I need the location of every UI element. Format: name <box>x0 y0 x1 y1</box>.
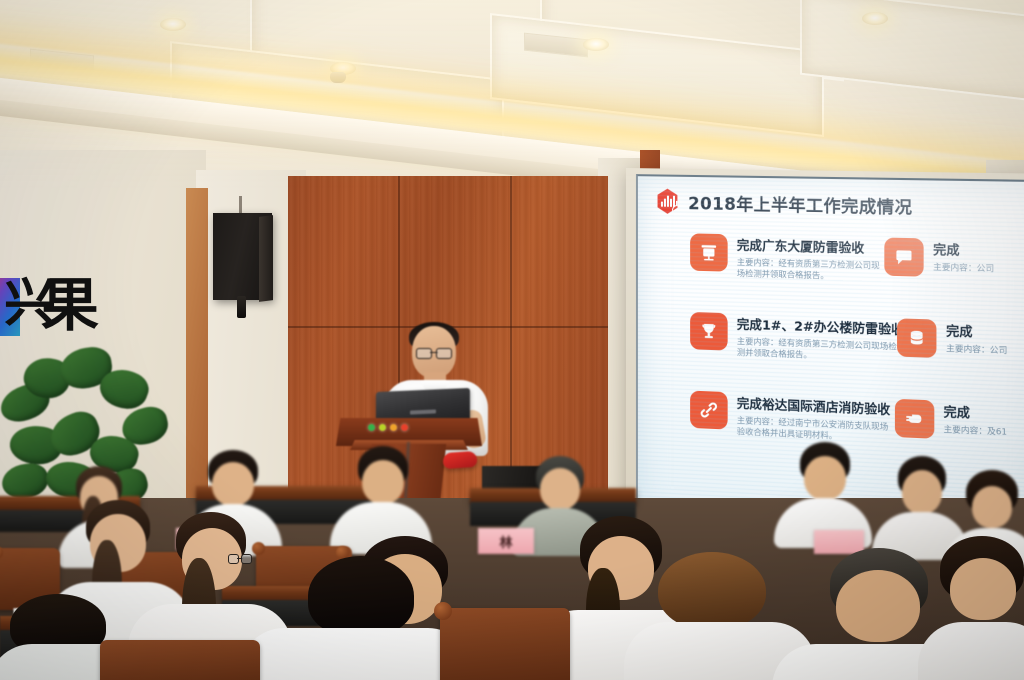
name-card: 林 <box>478 528 534 554</box>
slide-item-body: 主要内容：经有资质第三方检测公司现场检测并领取合格报告。 <box>737 257 880 283</box>
slide-item-heading: 完成 <box>943 402 1007 423</box>
ceiling-coffer <box>800 0 1024 109</box>
audience-member <box>336 448 428 546</box>
slide-header: 2018年上半年工作完成情况 <box>656 188 913 218</box>
slide-item: 完成广东大厦防雷验收 主要内容：经有资质第三方检测公司现场检测并领取合格报告。 <box>690 233 880 282</box>
slide-item-heading: 完成广东大厦防雷验收 <box>737 235 880 257</box>
recessed-downlight-icon <box>160 18 186 31</box>
slide-item: 完成 主要内容：公司 <box>884 238 1024 280</box>
slide-item-body: 主要内容：经有资质第三方检测公司现场检测并领取合格报告。 <box>737 336 904 364</box>
eyeglasses-icon <box>416 348 452 357</box>
audience-member <box>250 556 460 680</box>
chair-back <box>440 608 570 680</box>
chair-back <box>100 640 260 680</box>
wall-signage: 兴 果 <box>0 276 104 346</box>
database-icon <box>897 318 936 358</box>
lectern-control-buttons[interactable] <box>368 424 408 431</box>
trophy-icon <box>690 312 728 351</box>
company-hexagon-logo-icon <box>656 188 679 214</box>
link-chain-icon <box>690 391 728 430</box>
slide-item: 完成裕达国际酒店消防验收 主要内容：经过南宁市公安消防支队现场验收合格并出具证明… <box>690 391 890 444</box>
slide-item: 完成 主要内容：及61 <box>894 399 1024 444</box>
slide-item-heading: 完成 <box>946 321 1007 342</box>
recessed-downlight-icon <box>583 38 609 51</box>
speaker-mount-hardware <box>237 296 246 318</box>
slide-item-body: 主要内容：及61 <box>943 424 1007 438</box>
conference-room-photo: 兴 果 2018年上半年工作完成情况 <box>0 0 1024 680</box>
wall-mounted-pa-speaker <box>213 213 272 300</box>
laptop-brand-mark <box>410 409 436 414</box>
audience-member <box>922 536 1024 680</box>
logo-dot-icon <box>672 205 683 216</box>
signage-glyph-2: 果 <box>41 276 99 334</box>
slide-item: 完成 主要内容：公司 <box>897 318 1024 361</box>
recessed-downlight-icon <box>862 12 888 25</box>
slide-item-body: 主要内容：经过南宁市公安消防支队现场验收合格并出具证明材料。 <box>737 415 890 444</box>
slide-title: 2018年上半年工作完成情况 <box>688 190 912 218</box>
slide-item: 完成1#、2#办公楼防雷验收 主要内容：经有资质第三方检测公司现场检测并领取合格… <box>690 312 893 363</box>
chair-knob <box>434 602 452 620</box>
slide-item-heading: 完成裕达国际酒店消防验收 <box>737 393 890 418</box>
speaker-face <box>259 215 273 302</box>
slide-item-heading: 完成 <box>933 240 994 260</box>
presentation-board-icon <box>690 233 728 271</box>
slide-item-body: 主要内容：公司 <box>933 261 994 274</box>
audience-member <box>778 444 868 540</box>
speech-bubble-icon <box>884 238 923 277</box>
slide-item-heading: 完成1#、2#办公楼防雷验收 <box>737 314 904 338</box>
slide-row: 完成广东大厦防雷验收 主要内容：经有资质第三方检测公司现场检测并领取合格报告。 … <box>638 232 1024 323</box>
power-plug-icon <box>894 399 933 439</box>
red-wireless-mouse[interactable] <box>442 451 477 469</box>
slide-item-body: 主要内容：公司 <box>946 343 1007 356</box>
